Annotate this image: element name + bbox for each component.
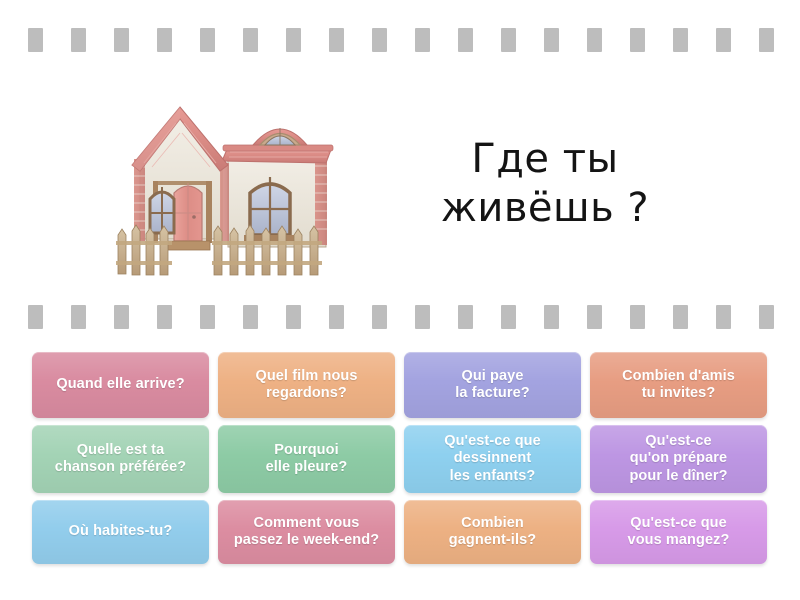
prompt-area: Где ты живёшь ? [0,74,800,294]
filmstrip-perforation [157,28,172,52]
answer-tile[interactable]: Qui paye la facture? [404,352,581,418]
filmstrip-perforation [716,305,731,329]
filmstrip-perforation [114,305,129,329]
filmstrip-perforation [759,305,774,329]
filmstrip-perforation [71,28,86,52]
filmstrip-perforation [716,28,731,52]
answer-tile-label: Quel film nous regardons? [255,368,357,402]
filmstrip-perforation [759,28,774,52]
filmstrip-perforation [630,305,645,329]
filmstrip-perforation [157,305,172,329]
answer-tile[interactable]: Quand elle arrive? [32,352,209,418]
filmstrip-perforation [673,28,688,52]
filmstrip-perforation [544,28,559,52]
filmstrip-perforation [286,305,301,329]
answer-tile-label: Quand elle arrive? [56,376,184,393]
filmstrip-perforation [587,28,602,52]
filmstrip-perforation [458,28,473,52]
answer-tile-label: Combien gagnent-ils? [449,515,536,549]
filmstrip-perforation [286,28,301,52]
filmstrip-perforation [71,305,86,329]
filmstrip-perforation [200,28,215,52]
filmstrip-perforations-top [0,28,800,52]
filmstrip-perforation [372,305,387,329]
filmstrip-perforation [501,28,516,52]
answer-tile[interactable]: Comment vous passez le week-end? [218,500,395,564]
answer-tile-label: Combien d'amis tu invites? [622,368,735,402]
filmstrip-perforation [458,305,473,329]
filmstrip-perforation [28,305,43,329]
filmstrip-perforation [114,28,129,52]
answer-tile[interactable]: Combien gagnent-ils? [404,500,581,564]
answer-tile[interactable]: Où habites-tu? [32,500,209,564]
filmstrip-perforation [243,305,258,329]
filmstrip-perforation [243,28,258,52]
prompt-question-line-1: Где ты [395,135,695,184]
answer-tile-label: Comment vous passez le week-end? [234,515,379,549]
filmstrip-perforation [329,305,344,329]
filmstrip-perforation [415,28,430,52]
answer-tile[interactable]: Qu'est-ce qu'on prépare pour le dîner? [590,425,767,493]
answer-tile[interactable]: Combien d'amis tu invites? [590,352,767,418]
filmstrip-perforation [28,28,43,52]
answer-tile-grid: Quand elle arrive?Quel film nous regardo… [32,352,768,564]
filmstrip-perforation [673,305,688,329]
answer-tile-label: Où habites-tu? [69,523,173,540]
filmstrip-perforations-middle [0,305,800,329]
filmstrip-perforation [501,305,516,329]
filmstrip-perforation [544,305,559,329]
game-stage: Где ты живёшь ? Quand elle arrive?Quel f… [0,0,800,600]
filmstrip-perforation [415,305,430,329]
filmstrip-perforation [587,305,602,329]
filmstrip-perforation [200,305,215,329]
answer-tile[interactable]: Quel film nous regardons? [218,352,395,418]
answer-tile[interactable]: Qu'est-ce que vous mangez? [590,500,767,564]
answer-tile-label: Qu'est-ce que vous mangez? [628,515,730,549]
filmstrip-perforation [329,28,344,52]
answer-tile-label: Qu'est-ce qu'on prépare pour le dîner? [629,433,727,484]
house-image [105,84,355,284]
answer-tile[interactable]: Pourquoi elle pleure? [218,425,395,493]
prompt-question-line-2: живёшь ? [395,184,695,233]
answer-tile[interactable]: Qu'est-ce que dessinnent les enfants? [404,425,581,493]
answer-tile[interactable]: Quelle est ta chanson préférée? [32,425,209,493]
answer-tile-label: Qu'est-ce que dessinnent les enfants? [444,433,541,484]
filmstrip-perforation [630,28,645,52]
filmstrip-perforation [372,28,387,52]
answer-tile-label: Quelle est ta chanson préférée? [55,442,186,476]
answer-tile-label: Qui paye la facture? [455,368,529,402]
watercolor-house-illustration-svg [110,89,350,279]
answer-tile-label: Pourquoi elle pleure? [266,442,348,476]
prompt-question: Где ты живёшь ? [395,135,695,233]
